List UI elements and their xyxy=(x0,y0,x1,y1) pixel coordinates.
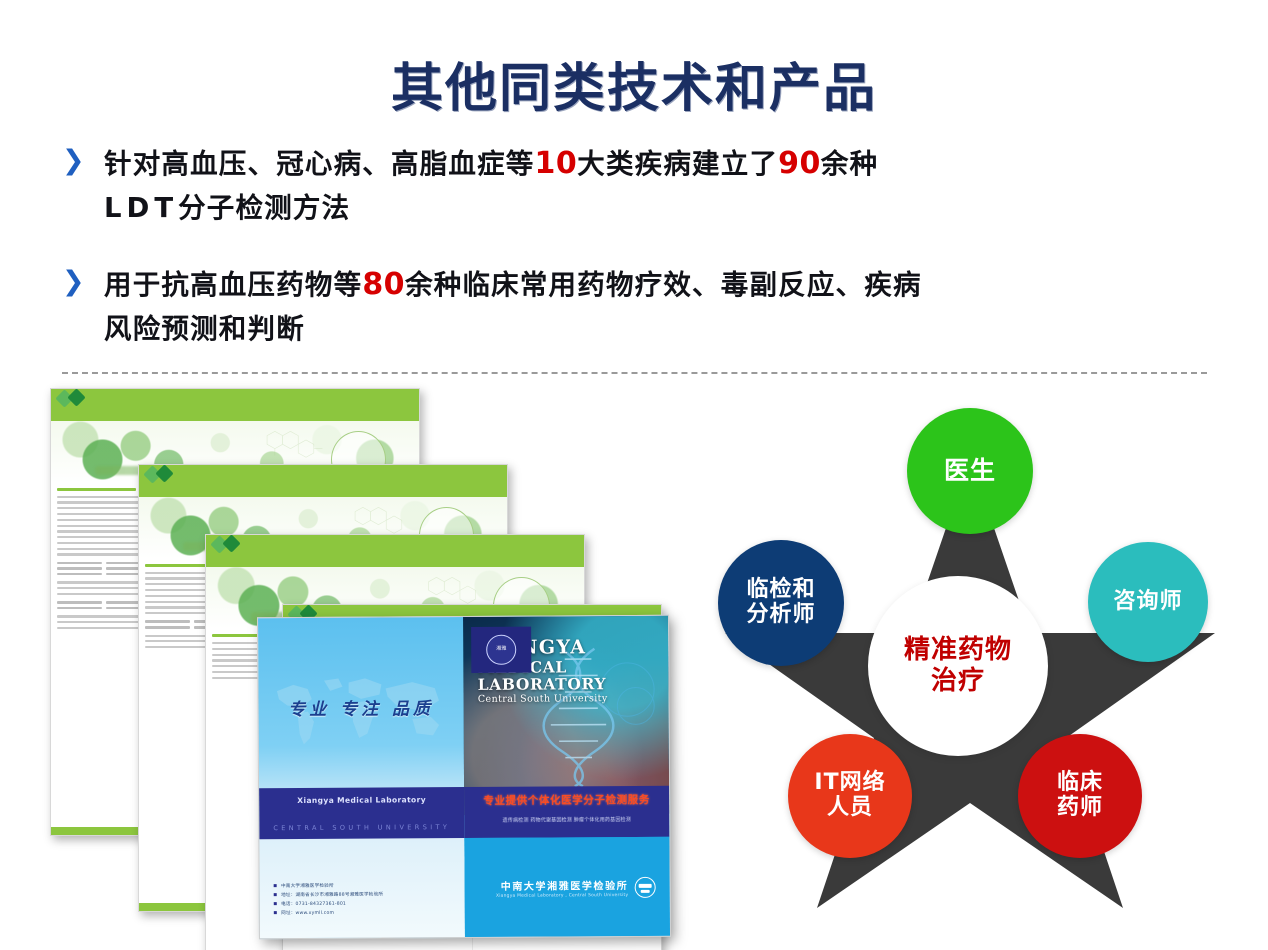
bullet-1-text: 针对高血压、冠心病、高脂血症等10大类疾病建立了90余种 LDT分子检测方法 xyxy=(104,140,1208,231)
report-logo-icon xyxy=(146,467,172,481)
xiangya-lab-logo-icon xyxy=(634,876,655,897)
contact-line: 地址：湖南省长沙市湘雅路88号湘雅医学检验所 xyxy=(281,891,383,898)
star-node-label-line1: IT网络 xyxy=(814,771,885,796)
star-node-it-network-staff[interactable]: IT网络 人员 xyxy=(788,734,912,858)
center-label-line2: 治疗 xyxy=(904,666,1012,697)
bullet-1-line2: 分子检测方法 xyxy=(178,192,350,224)
star-node-doctor[interactable]: 医生 xyxy=(907,408,1033,534)
bullet-dot-icon xyxy=(274,902,277,905)
bullet-2-number-80: 80 xyxy=(362,267,405,302)
contact-line: 电话：0731-84327361-801 xyxy=(281,901,346,907)
bullet-1-part3: 余种 xyxy=(821,148,878,180)
report-header-bar xyxy=(206,535,584,567)
brand-line-3: Central South University xyxy=(478,693,658,705)
page-title: 其他同类技术和产品 xyxy=(0,46,1268,121)
bullet-2-line2: 风险预测和判断 xyxy=(104,313,305,345)
org-name-cn: 中南大学湘雅医学检验所 xyxy=(496,877,629,893)
report-logo-icon xyxy=(58,391,84,405)
star-center-label: 精准药物 治疗 xyxy=(868,576,1048,756)
bullet-1-part1: 针对高血压、冠心病、高脂血症等 xyxy=(104,148,535,180)
brochure-left-panel: 专业 专注 品质 Xiangya Medical Laboratory CENT… xyxy=(258,617,465,938)
star-node-lab-analyst[interactable]: 临检和 分析师 xyxy=(718,540,844,666)
star-node-label-line2: 分析师 xyxy=(746,603,815,628)
report-header-bar xyxy=(51,389,419,421)
brochure-university-text: CENTRAL SOUTH UNIVERSITY xyxy=(259,823,464,832)
center-label-line1: 精准药物 xyxy=(904,635,1012,666)
brochure-band-text: Xiangya Medical Laboratory xyxy=(259,795,464,805)
chevron-right-icon: ❯ xyxy=(62,269,88,297)
brochure-cover: 专业 专注 品质 Xiangya Medical Laboratory CENT… xyxy=(257,615,671,940)
star-node-label: 咨询师 xyxy=(1113,590,1182,615)
bullet-1-ldt: LDT xyxy=(104,192,178,224)
star-node-label-line1: 临检和 xyxy=(746,578,815,603)
bullet-1-number-10: 10 xyxy=(535,146,578,181)
bullet-2-part2: 余种临床常用药物疗效、毒副反应、疾病 xyxy=(405,269,922,301)
star-node-label: 医生 xyxy=(944,457,996,485)
bullet-dot-icon xyxy=(274,884,277,887)
brochure-red-banner-sub: 遗传病检测 药物代谢基因检测 肿瘤个体化用药基因检测 xyxy=(464,815,669,823)
chevron-right-icon: ❯ xyxy=(62,148,88,176)
star-node-clinical-pharmacist[interactable]: 临床 药师 xyxy=(1018,734,1142,858)
contact-line: 中南大学湘雅医学检验所 xyxy=(281,883,334,889)
contact-line: 网址：www.xymll.com xyxy=(281,910,334,916)
star-diagram: 医生 咨询师 临检和 分析师 IT网络 人员 临床 药师 精准药物 xyxy=(700,398,1240,908)
org-name-en: Xiangya Medical Laboratory , Central Sou… xyxy=(496,893,628,899)
bullet-item-2: ❯ 用于抗高血压药物等80余种临床常用药物疗效、毒副反应、疾病 风险预测和判断 xyxy=(58,261,1208,352)
star-node-label-line1: 临床 xyxy=(1057,771,1103,796)
brochure-red-banner: 专业提供个体化医学分子检测服务 xyxy=(464,792,669,808)
brochure-contact-list: 中南大学湘雅医学检验所 地址：湖南省长沙市湘雅路88号湘雅医学检验所 电话：07… xyxy=(274,882,451,919)
bullet-list: ❯ 针对高血压、冠心病、高脂血症等10大类疾病建立了90余种 LDT分子检测方法… xyxy=(58,140,1208,382)
slide-root: 其他同类技术和产品 ❯ 针对高血压、冠心病、高脂血症等10大类疾病建立了90余种… xyxy=(0,0,1268,950)
star-node-consultant[interactable]: 咨询师 xyxy=(1088,542,1208,662)
bullet-2-text: 用于抗高血压药物等80余种临床常用药物疗效、毒副反应、疾病 风险预测和判断 xyxy=(104,261,1208,352)
bullet-1-part2: 大类疾病建立了 xyxy=(577,148,778,180)
star-node-label-line2: 人员 xyxy=(814,796,885,821)
report-logo-icon xyxy=(213,537,239,551)
section-divider xyxy=(62,372,1207,374)
brochure-org-block: 中南大学湘雅医学检验所 Xiangya Medical Laboratory ,… xyxy=(496,876,656,898)
bullet-2-part1: 用于抗高血压药物等 xyxy=(104,269,362,301)
bullet-item-1: ❯ 针对高血压、冠心病、高脂血症等10大类疾病建立了90余种 LDT分子检测方法 xyxy=(58,140,1208,231)
xiangya-seal-icon xyxy=(471,626,531,672)
bullet-dot-icon xyxy=(274,893,277,896)
brochure-slogan: 专业 专注 品质 xyxy=(258,694,463,720)
bullet-1-number-90: 90 xyxy=(778,146,821,181)
report-header-bar xyxy=(139,465,507,497)
star-node-label-line2: 药师 xyxy=(1057,796,1103,821)
bullet-dot-icon xyxy=(274,911,277,914)
